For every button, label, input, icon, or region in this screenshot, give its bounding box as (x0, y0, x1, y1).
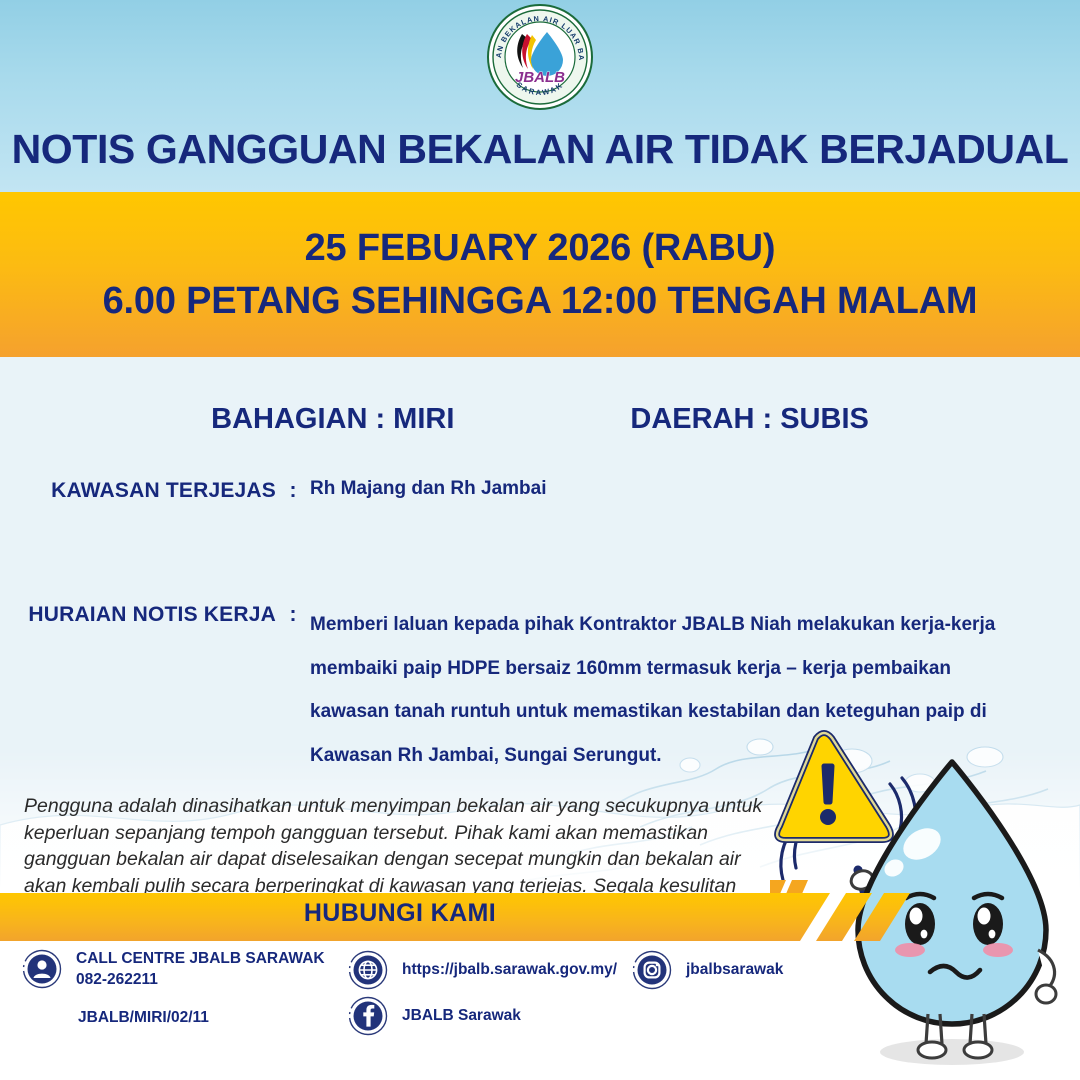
division-label: BAHAGIAN : MIRI (211, 403, 454, 436)
affected-area-colon: : (276, 479, 310, 503)
svg-text:JBALB: JBALB (515, 69, 565, 86)
page-title: NOTIS GANGGUAN BEKALAN AIR TIDAK BERJADU… (0, 126, 1080, 173)
person-icon (22, 949, 62, 989)
instagram-icon (632, 950, 672, 990)
work-description-value: Memberi laluan kepada pihak Kontraktor J… (310, 603, 1028, 778)
notice-time-range: 6.00 PETANG SEHINGGA 12:00 TENGAH MALAM (103, 275, 978, 327)
water-disruption-notice-poster: JABATAN BEKALAN AIR LUAR BANDAR SARAWAK … (0, 0, 1080, 1080)
work-description-label: HURAIAN NOTIS KERJA (12, 603, 276, 778)
poster-header: JABATAN BEKALAN AIR LUAR BANDAR SARAWAK … (0, 0, 1080, 192)
notice-date: 25 FEBUARY 2026 (RABU) (305, 222, 776, 274)
work-description-field: HURAIAN NOTIS KERJA : Memberi laluan kep… (12, 603, 1028, 778)
work-description-colon: : (276, 603, 310, 778)
contact-facebook-text: JBALB Sarawak (402, 1005, 521, 1026)
contact-call-centre-text: CALL CENTRE JBALB SARAWAK 082-262211 (76, 948, 325, 990)
region-row: BAHAGIAN : MIRI DAERAH : SUBIS (0, 403, 1080, 436)
affected-area-value: Rh Majang dan Rh Jambai (310, 479, 546, 503)
contact-website[interactable]: https://jbalb.sarawak.gov.my/ (348, 950, 617, 990)
facebook-icon (348, 996, 388, 1036)
contact-call-centre[interactable]: CALL CENTRE JBALB SARAWAK 082-262211 (22, 948, 325, 990)
reference-code: JBALB/MIRI/02/11 (78, 1009, 209, 1027)
jbalb-logo: JABATAN BEKALAN AIR LUAR BANDAR SARAWAK … (485, 2, 595, 112)
contact-banner-label: HUBUNGI KAMI (0, 899, 800, 928)
contact-instagram-text: jbalbsarawak (686, 959, 783, 980)
district-label: DAERAH : SUBIS (630, 403, 868, 436)
contact-facebook[interactable]: JBALB Sarawak (348, 996, 521, 1036)
contact-instagram[interactable]: jbalbsarawak (632, 950, 783, 990)
affected-area-label: KAWASAN TERJEJAS (12, 479, 276, 503)
contact-website-text: https://jbalb.sarawak.gov.my/ (402, 959, 617, 980)
date-banner: 25 FEBUARY 2026 (RABU) 6.00 PETANG SEHIN… (0, 192, 1080, 357)
globe-icon (348, 950, 388, 990)
affected-area-field: KAWASAN TERJEJAS : Rh Majang dan Rh Jamb… (12, 479, 546, 503)
jbalb-logo-svg: JABATAN BEKALAN AIR LUAR BANDAR SARAWAK … (485, 2, 595, 112)
